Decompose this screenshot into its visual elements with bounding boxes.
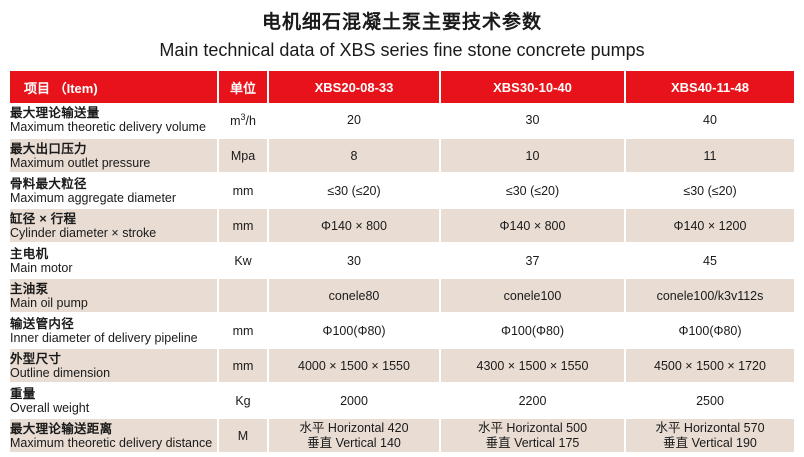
- row-value-model-2: 2200: [440, 383, 625, 418]
- row-value-model-3: conele100/k3v112s: [625, 278, 794, 313]
- row-item-label: 最大出口压力Maximum outlet pressure: [10, 138, 218, 173]
- title-block: 电机细石混凝土泵主要技术参数 Main technical data of XB…: [0, 0, 804, 63]
- page-title-cn: 电机细石混凝土泵主要技术参数: [0, 10, 804, 36]
- row-value-model-2: 10: [440, 138, 625, 173]
- column-header-unit: 单位: [218, 71, 268, 103]
- row-item-label: 最大理论输送距离Maximum theoretic delivery dista…: [10, 418, 218, 453]
- row-item-label: 主电机Main motor: [10, 243, 218, 278]
- row-unit: Kg: [218, 383, 268, 418]
- row-item-label: 重量Overall weight: [10, 383, 218, 418]
- row-unit: Mpa: [218, 138, 268, 173]
- row-value-model-2: 水平 Horizontal 500垂直 Vertical 175: [440, 418, 625, 453]
- row-value-model-1: Φ100(Φ80): [268, 313, 440, 348]
- value-line-horizontal: 水平 Horizontal 420: [269, 421, 439, 436]
- row-unit: mm: [218, 173, 268, 208]
- row-value-model-1: 20: [268, 103, 440, 138]
- row-value-model-2: Φ100(Φ80): [440, 313, 625, 348]
- row-unit: M: [218, 418, 268, 453]
- row-item-label-en: Maximum theoretic delivery distance: [10, 436, 217, 450]
- page-root: 电机细石混凝土泵主要技术参数 Main technical data of XB…: [0, 0, 804, 457]
- row-value-model-3: ≤30 (≤20): [625, 173, 794, 208]
- row-unit: mm: [218, 313, 268, 348]
- row-unit: Kw: [218, 243, 268, 278]
- row-item-label-cn: 外型尺寸: [10, 352, 217, 366]
- row-item-label-en: Outline dimension: [10, 366, 217, 380]
- table-row: 主电机Main motorKw303745: [10, 243, 794, 278]
- row-value-model-3: Φ100(Φ80): [625, 313, 794, 348]
- row-item-label: 外型尺寸Outline dimension: [10, 348, 218, 383]
- row-item-label-cn: 主油泵: [10, 282, 217, 296]
- row-item-label-cn: 骨料最大粒径: [10, 177, 217, 191]
- column-header-model-3: XBS40-11-48: [625, 71, 794, 103]
- table-body: 最大理论输送量Maximum theoretic delivery volume…: [10, 103, 794, 453]
- page-title-en: Main technical data of XBS series fine s…: [0, 37, 804, 63]
- row-unit: m3/h: [218, 103, 268, 138]
- spec-table: 项目 （Item) 单位 XBS20-08-33 XBS30-10-40 XBS…: [10, 71, 794, 454]
- row-value-model-3: 11: [625, 138, 794, 173]
- row-item-label-en: Cylinder diameter × stroke: [10, 226, 217, 240]
- row-value-model-3: 45: [625, 243, 794, 278]
- row-value-model-2: ≤30 (≤20): [440, 173, 625, 208]
- row-value-model-1: conele80: [268, 278, 440, 313]
- row-item-label-en: Main oil pump: [10, 296, 217, 310]
- column-header-model-1: XBS20-08-33: [268, 71, 440, 103]
- column-header-model-2: XBS30-10-40: [440, 71, 625, 103]
- row-item-label-en: Maximum aggregate diameter: [10, 191, 217, 205]
- table-row: 缸径 × 行程Cylinder diameter × strokemmΦ140 …: [10, 208, 794, 243]
- row-value-multiline: 水平 Horizontal 570垂直 Vertical 190: [626, 421, 794, 451]
- row-value-model-3: 4500 × 1500 × 1720: [625, 348, 794, 383]
- row-item-label-cn: 输送管内径: [10, 317, 217, 331]
- table-row: 骨料最大粒径Maximum aggregate diametermm≤30 (≤…: [10, 173, 794, 208]
- row-item-label-en: Inner diameter of delivery pipeline: [10, 331, 217, 345]
- table-row: 最大出口压力Maximum outlet pressureMpa81011: [10, 138, 794, 173]
- row-value-multiline: 水平 Horizontal 500垂直 Vertical 175: [441, 421, 624, 451]
- row-item-label-cn: 最大理论输送距离: [10, 422, 217, 436]
- row-value-model-1: 8: [268, 138, 440, 173]
- row-item-label: 骨料最大粒径Maximum aggregate diameter: [10, 173, 218, 208]
- row-value-model-1: ≤30 (≤20): [268, 173, 440, 208]
- column-header-item: 项目 （Item): [10, 71, 218, 103]
- row-unit: mm: [218, 348, 268, 383]
- row-item-label: 缸径 × 行程Cylinder diameter × stroke: [10, 208, 218, 243]
- row-unit: mm: [218, 208, 268, 243]
- row-item-label-cn: 主电机: [10, 247, 217, 261]
- row-item-label: 最大理论输送量Maximum theoretic delivery volume: [10, 103, 218, 138]
- row-item-label: 输送管内径Inner diameter of delivery pipeline: [10, 313, 218, 348]
- spec-table-container: 项目 （Item) 单位 XBS20-08-33 XBS30-10-40 XBS…: [10, 71, 794, 454]
- row-value-model-2: 37: [440, 243, 625, 278]
- table-row: 最大理论输送距离Maximum theoretic delivery dista…: [10, 418, 794, 453]
- value-line-horizontal: 水平 Horizontal 570: [626, 421, 794, 436]
- value-line-vertical: 垂直 Vertical 190: [626, 436, 794, 451]
- row-value-model-1: 4000 × 1500 × 1550: [268, 348, 440, 383]
- table-row: 主油泵Main oil pumpconele80conele100conele1…: [10, 278, 794, 313]
- table-row: 外型尺寸Outline dimensionmm4000 × 1500 × 155…: [10, 348, 794, 383]
- row-item-label-en: Maximum theoretic delivery volume: [10, 120, 217, 134]
- table-row: 输送管内径Inner diameter of delivery pipeline…: [10, 313, 794, 348]
- row-value-model-2: 30: [440, 103, 625, 138]
- value-line-vertical: 垂直 Vertical 140: [269, 436, 439, 451]
- row-item-label-en: Main motor: [10, 261, 217, 275]
- value-line-horizontal: 水平 Horizontal 500: [441, 421, 624, 436]
- row-value-model-1: 水平 Horizontal 420垂直 Vertical 140: [268, 418, 440, 453]
- row-value-model-2: conele100: [440, 278, 625, 313]
- value-line-vertical: 垂直 Vertical 175: [441, 436, 624, 451]
- row-value-model-3: 40: [625, 103, 794, 138]
- row-item-label-cn: 最大理论输送量: [10, 106, 217, 120]
- row-item-label-en: Maximum outlet pressure: [10, 156, 217, 170]
- row-value-model-2: 4300 × 1500 × 1550: [440, 348, 625, 383]
- header-row: 项目 （Item) 单位 XBS20-08-33 XBS30-10-40 XBS…: [10, 71, 794, 103]
- row-item-label-cn: 最大出口压力: [10, 142, 217, 156]
- row-item-label: 主油泵Main oil pump: [10, 278, 218, 313]
- row-item-label-cn: 缸径 × 行程: [10, 212, 217, 226]
- row-value-model-3: 水平 Horizontal 570垂直 Vertical 190: [625, 418, 794, 453]
- row-item-label-cn: 重量: [10, 387, 217, 401]
- row-value-model-1: Φ140 × 800: [268, 208, 440, 243]
- table-row: 重量Overall weightKg200022002500: [10, 383, 794, 418]
- row-value-multiline: 水平 Horizontal 420垂直 Vertical 140: [269, 421, 439, 451]
- row-value-model-3: Φ140 × 1200: [625, 208, 794, 243]
- row-item-label-en: Overall weight: [10, 401, 217, 415]
- row-unit: [218, 278, 268, 313]
- table-row: 最大理论输送量Maximum theoretic delivery volume…: [10, 103, 794, 138]
- row-value-model-1: 30: [268, 243, 440, 278]
- row-value-model-1: 2000: [268, 383, 440, 418]
- row-value-model-2: Φ140 × 800: [440, 208, 625, 243]
- row-value-model-3: 2500: [625, 383, 794, 418]
- table-header: 项目 （Item) 单位 XBS20-08-33 XBS30-10-40 XBS…: [10, 71, 794, 103]
